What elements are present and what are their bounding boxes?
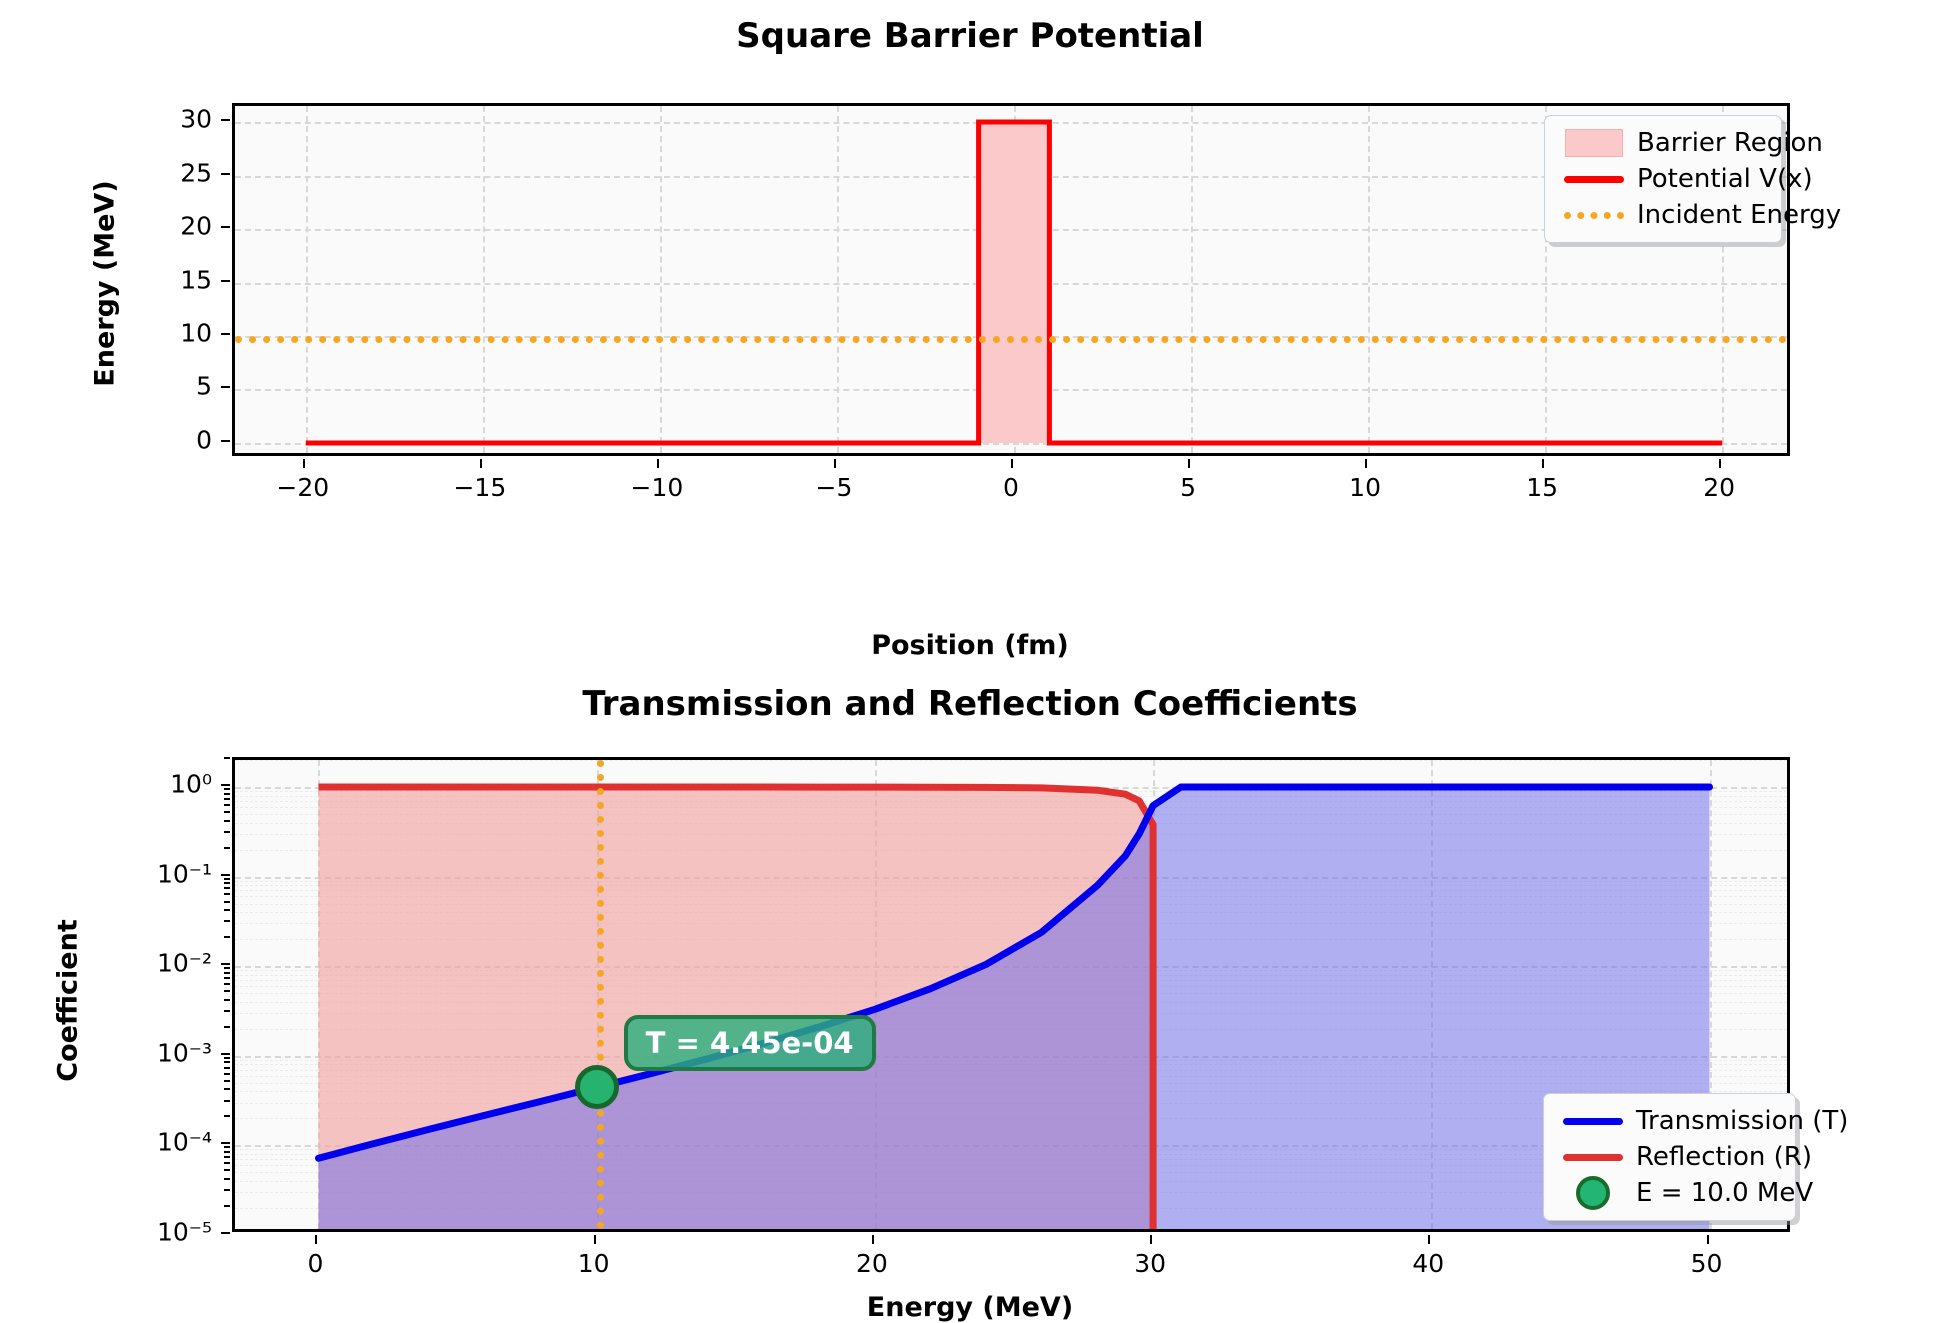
ytick-mark-minor xyxy=(224,1026,230,1028)
incident-energy-line xyxy=(235,336,1787,343)
figure-canvas: Square Barrier Potential Position (fm) E… xyxy=(0,0,1940,1322)
red-line-icon-2 xyxy=(1556,1154,1630,1161)
ytick-label: 10⁻⁵ xyxy=(120,1218,212,1247)
xtick-mark xyxy=(303,459,305,468)
ytick-label: 10⁻² xyxy=(120,949,212,978)
ytick-label: 30 xyxy=(142,105,212,134)
xtick-mark xyxy=(1188,459,1190,468)
xtick-mark xyxy=(315,1235,317,1244)
orange-dotted-line-icon xyxy=(1557,212,1631,219)
green-circle-marker-icon xyxy=(1556,1176,1630,1210)
legend-item-incident-energy[interactable]: Incident Energy xyxy=(1557,197,1765,233)
ytick-mark-minor xyxy=(224,788,230,790)
ytick-mark-minor xyxy=(224,1080,230,1082)
ytick-label: 10⁻³ xyxy=(120,1038,212,1067)
ytick-mark-minor xyxy=(224,811,230,813)
xtick-mark xyxy=(480,459,482,468)
ytick-mark xyxy=(221,226,230,228)
ytick-mark-minor xyxy=(224,1205,230,1207)
ytick-label: 5 xyxy=(142,372,212,401)
legend-item-potential[interactable]: Potential V(x) xyxy=(1557,161,1765,197)
ytick-label: 10⁻¹ xyxy=(120,859,212,888)
energy-marker-point[interactable] xyxy=(575,1065,619,1109)
ytick-mark-minor xyxy=(224,1057,230,1059)
ytick-mark xyxy=(221,440,230,442)
potential-panel-title: Square Barrier Potential xyxy=(0,16,1940,56)
coefficients-ylabel: Coefficient xyxy=(53,891,84,1111)
xtick-mark xyxy=(1719,459,1721,468)
ytick-label: 10 xyxy=(142,318,212,347)
xtick-label: 10 xyxy=(1349,473,1381,502)
red-line-icon xyxy=(1557,176,1631,183)
xtick-label: −10 xyxy=(631,473,684,502)
xtick-label: 10 xyxy=(578,1249,610,1278)
xtick-mark xyxy=(594,1235,596,1244)
xtick-label: 0 xyxy=(308,1249,324,1278)
xtick-mark xyxy=(1365,459,1367,468)
xtick-label: 5 xyxy=(1180,473,1196,502)
ytick-mark-minor xyxy=(224,1061,230,1063)
potential-legend[interactable]: Barrier Region Potential V(x) Incident E… xyxy=(1544,115,1782,243)
ytick-mark-minor xyxy=(224,999,230,1001)
ytick-mark-minor xyxy=(224,920,230,922)
blue-line-icon xyxy=(1556,1118,1630,1125)
legend-label-potential: Potential V(x) xyxy=(1631,164,1813,194)
ytick-mark-minor xyxy=(224,798,230,800)
ytick-mark-minor xyxy=(224,1088,230,1090)
ytick-label: 25 xyxy=(142,158,212,187)
ytick-label: 20 xyxy=(142,212,212,241)
ytick-mark-minor xyxy=(224,1115,230,1117)
xtick-label: 20 xyxy=(856,1249,888,1278)
xtick-mark xyxy=(1542,459,1544,468)
potential-xlabel: Position (fm) xyxy=(0,630,1940,661)
transmission-annotation: T = 4.45e-04 xyxy=(624,1015,876,1071)
ytick-mark xyxy=(221,386,230,388)
xtick-mark xyxy=(1150,1235,1152,1244)
ytick-mark-minor xyxy=(224,1010,230,1012)
legend-item-reflection[interactable]: Reflection (R) xyxy=(1556,1139,1779,1175)
legend-label-reflection: Reflection (R) xyxy=(1630,1142,1812,1172)
ytick-mark-minor xyxy=(224,793,230,795)
ytick-mark-minor xyxy=(224,1178,230,1180)
coefficients-xlabel: Energy (MeV) xyxy=(0,1292,1940,1323)
xtick-label: −20 xyxy=(276,473,329,502)
ytick-label: 0 xyxy=(142,425,212,454)
ytick-mark-minor xyxy=(224,1189,230,1191)
ytick-mark-minor xyxy=(224,820,230,822)
legend-label-barrier-region: Barrier Region xyxy=(1631,128,1823,158)
ytick-mark-minor xyxy=(224,1169,230,1171)
coefficients-panel-title: Transmission and Reflection Coefficients xyxy=(0,684,1940,724)
ytick-label: 15 xyxy=(142,265,212,294)
ytick-mark-minor xyxy=(224,967,230,969)
ytick-mark xyxy=(221,1142,230,1144)
legend-label-incident-energy: Incident Energy xyxy=(1631,200,1841,230)
legend-item-barrier-region[interactable]: Barrier Region xyxy=(1557,125,1765,161)
ytick-mark xyxy=(221,280,230,282)
xtick-mark xyxy=(1707,1235,1709,1244)
xtick-mark xyxy=(1428,1235,1430,1244)
xtick-label: −5 xyxy=(816,473,853,502)
ytick-mark-minor xyxy=(224,1073,230,1075)
ytick-mark-minor xyxy=(224,882,230,884)
ytick-mark-minor xyxy=(224,901,230,903)
xtick-mark xyxy=(872,1235,874,1244)
ytick-mark xyxy=(221,874,230,876)
coefficients-legend[interactable]: Transmission (T) Reflection (R) E = 10.0… xyxy=(1543,1093,1796,1221)
ytick-mark-minor xyxy=(224,878,230,880)
xtick-label: 0 xyxy=(1003,473,1019,502)
ytick-mark-minor xyxy=(224,831,230,833)
ytick-mark-minor xyxy=(224,1067,230,1069)
ytick-mark-minor xyxy=(224,983,230,985)
legend-item-transmission[interactable]: Transmission (T) xyxy=(1556,1103,1779,1139)
ytick-mark-minor xyxy=(224,972,230,974)
potential-ylabel: Energy (MeV) xyxy=(90,174,121,394)
ytick-mark-minor xyxy=(224,1156,230,1158)
xtick-label: 40 xyxy=(1412,1249,1444,1278)
ytick-mark-minor xyxy=(224,1146,230,1148)
xtick-mark xyxy=(1011,459,1013,468)
legend-item-energy-marker[interactable]: E = 10.0 MeV xyxy=(1556,1175,1779,1211)
xtick-mark xyxy=(657,459,659,468)
xtick-label: −15 xyxy=(453,473,506,502)
ytick-mark xyxy=(221,1053,230,1055)
ytick-mark-minor xyxy=(224,893,230,895)
ytick-mark-minor xyxy=(224,804,230,806)
ytick-mark-minor xyxy=(224,887,230,889)
xtick-label: 30 xyxy=(1134,1249,1166,1278)
ytick-mark-minor xyxy=(224,757,230,759)
xtick-label: 20 xyxy=(1703,473,1735,502)
ytick-mark xyxy=(221,333,230,335)
legend-label-energy-marker: E = 10.0 MeV xyxy=(1630,1178,1813,1208)
ytick-mark xyxy=(221,963,230,965)
ytick-mark-minor xyxy=(224,1162,230,1164)
ytick-mark-minor xyxy=(224,990,230,992)
barrier-patch-icon xyxy=(1557,129,1631,157)
ytick-mark-minor xyxy=(224,977,230,979)
ytick-mark-minor xyxy=(224,936,230,938)
ytick-mark xyxy=(221,784,230,786)
ytick-label: 10⁻⁴ xyxy=(120,1128,212,1157)
incident-energy-vline xyxy=(597,760,604,1229)
ytick-mark-minor xyxy=(224,1100,230,1102)
ytick-mark xyxy=(221,1232,230,1234)
ytick-mark xyxy=(221,173,230,175)
legend-label-transmission: Transmission (T) xyxy=(1630,1106,1848,1136)
ytick-mark-minor xyxy=(224,909,230,911)
ytick-mark xyxy=(221,119,230,121)
ytick-mark-minor xyxy=(224,847,230,849)
xtick-label: 15 xyxy=(1526,473,1558,502)
xtick-label: 50 xyxy=(1691,1249,1723,1278)
ytick-mark-minor xyxy=(224,1151,230,1153)
xtick-mark xyxy=(834,459,836,468)
ytick-label: 10⁰ xyxy=(120,769,212,798)
